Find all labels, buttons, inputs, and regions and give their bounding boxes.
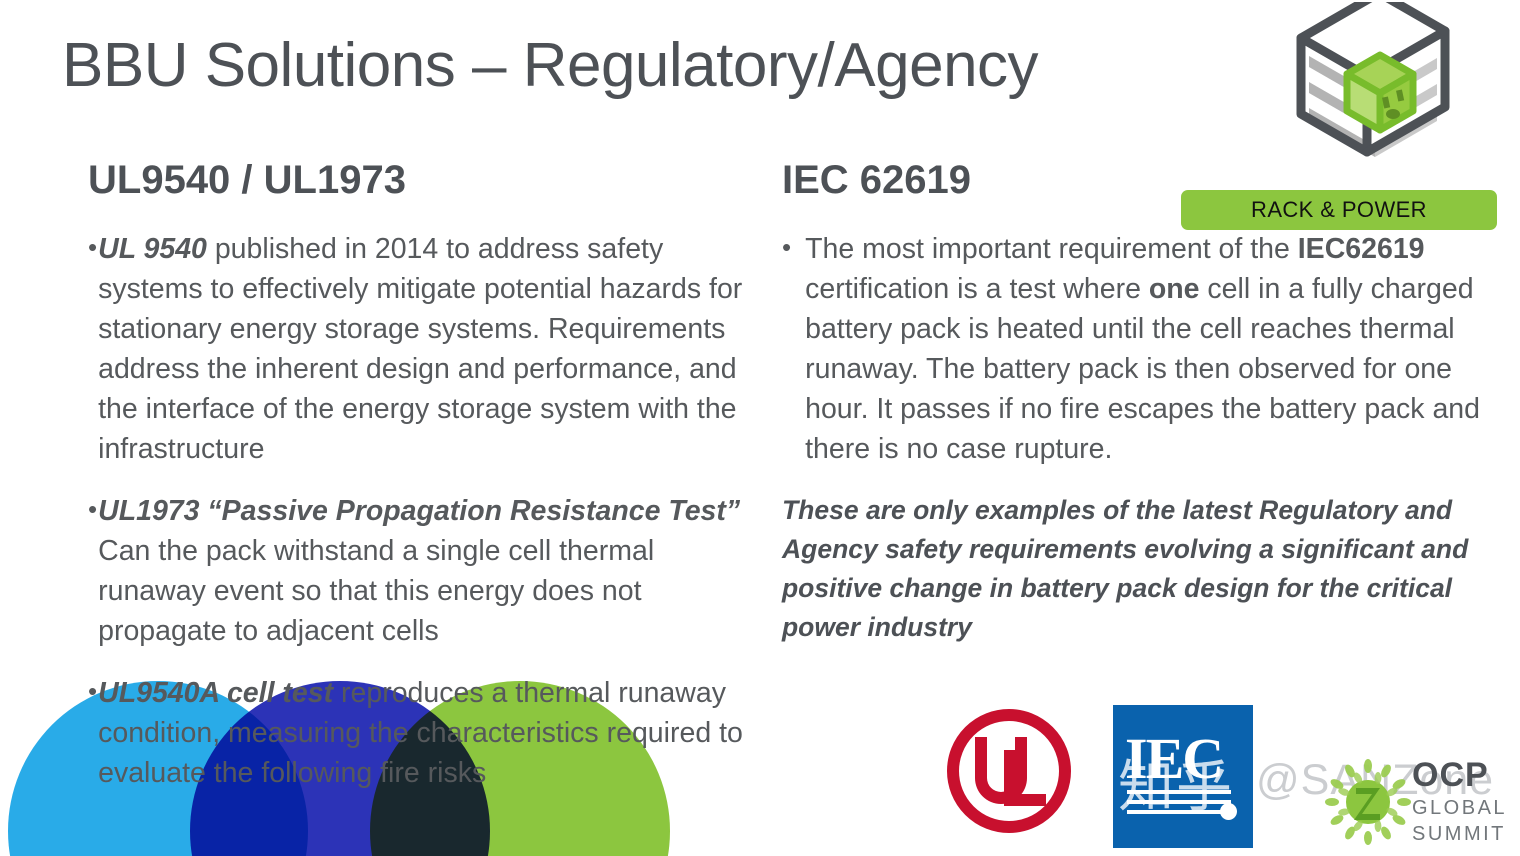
bullet-body-part-2: certification is a test where	[805, 273, 1149, 305]
bullet-bold-iec62619: IEC62619	[1298, 233, 1425, 265]
right-column-heading: IEC 62619	[782, 158, 1482, 203]
list-item: • UL1973 “Passive Propagation Resistance…	[88, 491, 768, 651]
ocp-logo-sub-summit: SUMMIT	[1412, 824, 1507, 844]
bullet-body: Can the pack withstand a single cell the…	[98, 535, 654, 647]
list-item: • UL9540A cell test reproduces a thermal…	[88, 673, 768, 793]
ocp-global-summit-logo: OCP GLOBAL SUMMIT	[1322, 752, 1518, 852]
page-title: BBU Solutions – Regulatory/Agency	[62, 30, 1038, 101]
iec-logo-dot	[1220, 803, 1237, 820]
bullet-bold-one: one	[1149, 273, 1200, 305]
list-item: • The most important requirement of the …	[782, 229, 1482, 469]
bullet-text: UL 9540 published in 2014 to address saf…	[98, 229, 768, 469]
ocp-logo-main-text: OCP	[1412, 758, 1507, 792]
slide-canvas: BBU Solutions – Regulatory/Agency	[0, 0, 1520, 856]
bullet-lead: UL 9540	[98, 233, 207, 265]
ul-certification-mark	[944, 706, 1074, 836]
bullet-body-part-1: The most important requirement of the	[805, 233, 1298, 265]
iec-certification-mark: IEC	[1113, 705, 1253, 848]
left-column: UL9540 / UL1973 • UL 9540 published in 2…	[88, 158, 768, 815]
iec-logo-lines	[1127, 790, 1231, 820]
ocp-logo-sub-global: GLOBAL	[1412, 798, 1507, 818]
bullet-text: UL9540A cell test reproduces a thermal r…	[98, 673, 768, 793]
ocp-logo-words: OCP GLOBAL SUMMIT	[1412, 758, 1507, 844]
bullet-body: published in 2014 to address safety syst…	[98, 233, 742, 465]
bullet-text: The most important requirement of the IE…	[805, 229, 1482, 469]
right-column: IEC 62619 • The most important requireme…	[782, 158, 1482, 647]
iec-logo-letters: IEC	[1125, 725, 1222, 792]
server-rack-isometric-icon	[1285, 2, 1500, 170]
bullet-text: UL1973 “Passive Propagation Resistance T…	[98, 491, 768, 651]
bullet-dot-icon: •	[88, 491, 97, 527]
ocp-leaf-circle-icon	[1322, 756, 1414, 848]
bullet-dot-icon: •	[782, 229, 791, 265]
bullet-lead: UL9540A cell test	[98, 677, 333, 709]
bullet-lead: UL1973 “Passive Propagation Resistance T…	[98, 495, 740, 527]
left-column-heading: UL9540 / UL1973	[88, 158, 768, 203]
closing-note: These are only examples of the latest Re…	[782, 491, 1482, 647]
list-item: • UL 9540 published in 2014 to address s…	[88, 229, 768, 469]
bullet-dot-icon: •	[88, 229, 97, 265]
bullet-dot-icon: •	[88, 673, 97, 709]
